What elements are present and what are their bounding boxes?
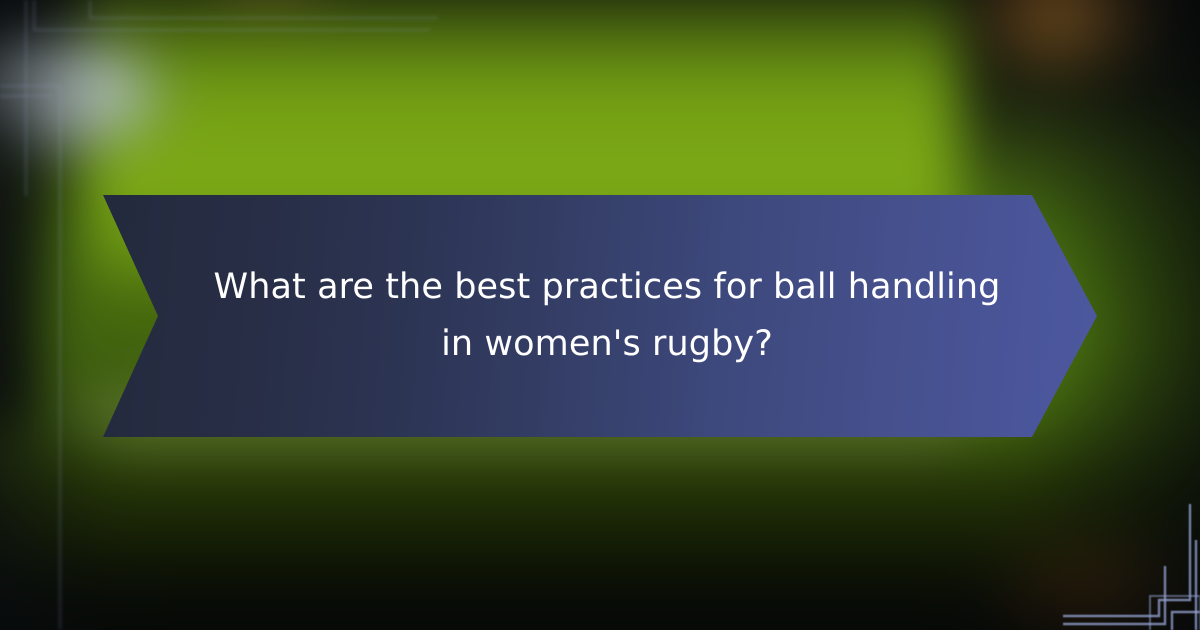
page-title: What are the best practices for ball han… (202, 259, 1012, 373)
photo-sideline-second (110, 434, 950, 454)
photo-left-vignette (0, 0, 110, 630)
headline-banner: What are the best practices for ball han… (103, 195, 1097, 437)
social-card: What are the best practices for ball han… (0, 0, 1200, 630)
